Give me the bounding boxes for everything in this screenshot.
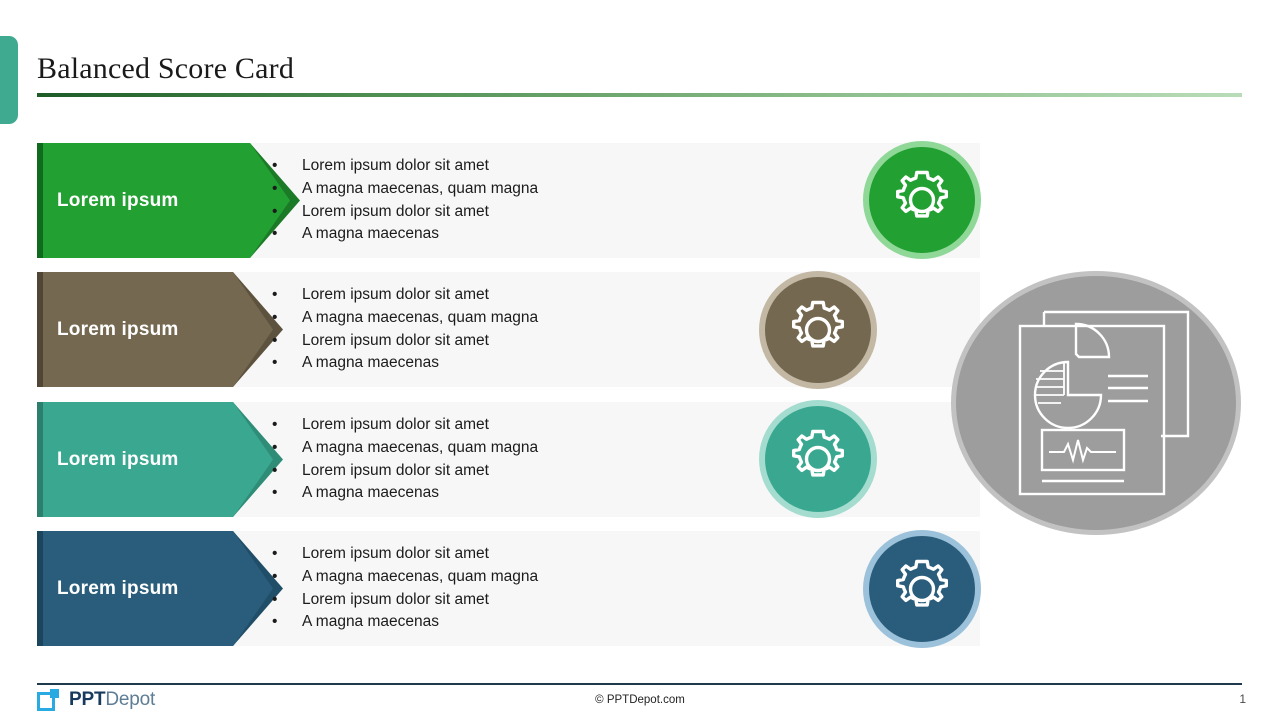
bullet-marker-icon: •	[272, 482, 302, 505]
bullet-marker-icon: •	[272, 307, 302, 330]
bullet-item: •Lorem ipsum dolor sit amet	[272, 414, 538, 437]
chevron-label: Lorem ipsum	[57, 531, 179, 646]
chevron-label: Lorem ipsum	[57, 143, 179, 258]
row-chevron[interactable]: Lorem ipsum	[37, 531, 283, 646]
row-bullet-list: •Lorem ipsum dolor sit amet•A magna maec…	[272, 143, 538, 258]
bullet-item: •A magna maecenas	[272, 223, 538, 246]
bullet-marker-icon: •	[272, 611, 302, 634]
bullet-marker-icon: •	[272, 352, 302, 375]
bullet-text: A magna maecenas	[302, 223, 439, 246]
score-card-row[interactable]: Lorem ipsum•Lorem ipsum dolor sit amet•A…	[37, 531, 980, 646]
row-chevron[interactable]: Lorem ipsum	[37, 272, 283, 387]
bullet-item: •Lorem ipsum dolor sit amet	[272, 155, 538, 178]
footer-divider	[37, 683, 1242, 685]
bullet-marker-icon: •	[272, 414, 302, 437]
bullet-item: •Lorem ipsum dolor sit amet	[272, 201, 538, 224]
bullet-text: A magna maecenas, quam magna	[302, 307, 538, 330]
bullet-text: Lorem ipsum dolor sit amet	[302, 201, 489, 224]
bullet-text: Lorem ipsum dolor sit amet	[302, 414, 489, 437]
bullet-item: •Lorem ipsum dolor sit amet	[272, 589, 538, 612]
bullet-item: •A magna maecenas, quam magna	[272, 437, 538, 460]
bullet-marker-icon: •	[272, 155, 302, 178]
report-document-circle	[951, 271, 1241, 535]
bullet-text: A magna maecenas	[302, 352, 439, 375]
footer-page-number: 1	[1239, 692, 1246, 706]
bullet-item: •Lorem ipsum dolor sit amet	[272, 460, 538, 483]
gear-icon	[886, 553, 958, 625]
gear-icon	[782, 423, 854, 495]
bullet-text: Lorem ipsum dolor sit amet	[302, 284, 489, 307]
bullet-text: Lorem ipsum dolor sit amet	[302, 543, 489, 566]
row-gear-badge[interactable]	[863, 530, 981, 648]
bullet-marker-icon: •	[272, 460, 302, 483]
page-title: Balanced Score Card	[37, 52, 294, 86]
row-gear-badge[interactable]	[863, 141, 981, 259]
bullet-item: •A magna maecenas	[272, 611, 538, 634]
bullet-marker-icon: •	[272, 201, 302, 224]
chevron-label: Lorem ipsum	[57, 272, 179, 387]
row-chevron[interactable]: Lorem ipsum	[37, 143, 300, 258]
bullet-item: •A magna maecenas, quam magna	[272, 566, 538, 589]
bullet-text: A magna maecenas, quam magna	[302, 437, 538, 460]
bullet-text: A magna maecenas, quam magna	[302, 178, 538, 201]
gear-icon	[782, 294, 854, 366]
bullet-text: Lorem ipsum dolor sit amet	[302, 155, 489, 178]
report-document-icon	[956, 276, 1236, 530]
row-bullet-list: •Lorem ipsum dolor sit amet•A magna maec…	[272, 272, 538, 387]
footer-copyright: © PPTDepot.com	[0, 694, 1280, 706]
bullet-text: Lorem ipsum dolor sit amet	[302, 330, 489, 353]
title-underline-rule	[37, 93, 1242, 97]
bullet-item: •A magna maecenas	[272, 482, 538, 505]
bullet-marker-icon: •	[272, 437, 302, 460]
bullet-marker-icon: •	[272, 566, 302, 589]
bullet-text: A magna maecenas, quam magna	[302, 566, 538, 589]
bullet-item: •Lorem ipsum dolor sit amet	[272, 330, 538, 353]
bullet-item: •A magna maecenas, quam magna	[272, 307, 538, 330]
score-card-row[interactable]: Lorem ipsum•Lorem ipsum dolor sit amet•A…	[37, 143, 980, 258]
bullet-marker-icon: •	[272, 223, 302, 246]
bullet-marker-icon: •	[272, 284, 302, 307]
row-bullet-list: •Lorem ipsum dolor sit amet•A magna maec…	[272, 402, 538, 517]
row-gear-badge[interactable]	[759, 271, 877, 389]
bullet-text: A magna maecenas	[302, 611, 439, 634]
bullet-marker-icon: •	[272, 178, 302, 201]
bullet-item: •A magna maecenas	[272, 352, 538, 375]
bullet-text: A magna maecenas	[302, 482, 439, 505]
gear-icon	[886, 164, 958, 236]
row-chevron[interactable]: Lorem ipsum	[37, 402, 283, 517]
chevron-label: Lorem ipsum	[57, 402, 179, 517]
bullet-text: Lorem ipsum dolor sit amet	[302, 460, 489, 483]
bullet-text: Lorem ipsum dolor sit amet	[302, 589, 489, 612]
left-accent-bar	[0, 36, 18, 124]
bullet-item: •A magna maecenas, quam magna	[272, 178, 538, 201]
bullet-marker-icon: •	[272, 543, 302, 566]
bullet-item: •Lorem ipsum dolor sit amet	[272, 543, 538, 566]
bullet-marker-icon: •	[272, 589, 302, 612]
row-bullet-list: •Lorem ipsum dolor sit amet•A magna maec…	[272, 531, 538, 646]
row-gear-badge[interactable]	[759, 400, 877, 518]
bullet-item: •Lorem ipsum dolor sit amet	[272, 284, 538, 307]
bullet-marker-icon: •	[272, 330, 302, 353]
